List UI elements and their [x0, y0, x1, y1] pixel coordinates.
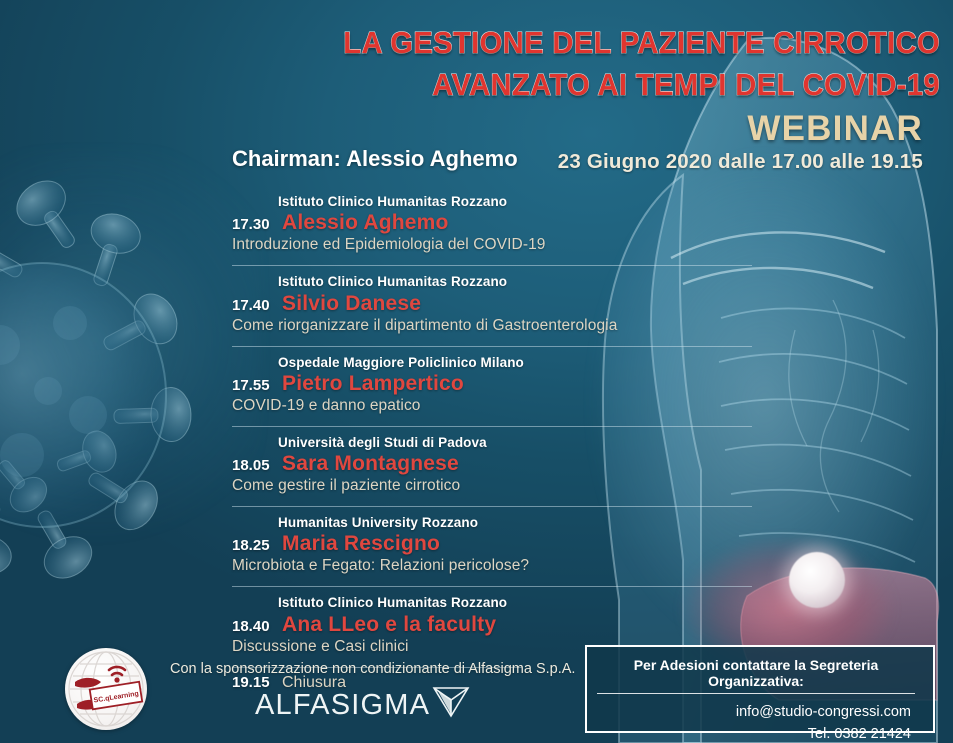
- entry-topic: Come riorganizzare il dipartimento di Ga…: [232, 317, 762, 335]
- entry-divider: [232, 586, 752, 587]
- program-entry: Università degli Studi di Padova 18.05 S…: [232, 433, 762, 499]
- entry-name-row: 18.25 Maria Rescigno: [232, 532, 762, 556]
- contact-box: Per Adesioni contattare la Segreteria Or…: [585, 645, 935, 733]
- entry-institution: Istituto Clinico Humanitas Rozzano: [278, 593, 762, 613]
- title-line-2: AVANZATO AI TEMPI DEL COVID-19: [291, 64, 940, 106]
- entry-divider: [232, 506, 752, 507]
- qlearning-logo-svg: SC.qLearning: [65, 648, 147, 730]
- contact-heading: Per Adesioni contattare la Segreteria Or…: [597, 657, 915, 694]
- entry-divider: [232, 346, 752, 347]
- sponsor-area: SC.qLearning Con la sponsorizzazione non…: [60, 645, 540, 740]
- entry-divider: [232, 265, 752, 266]
- alfasigma-wordmark: ALFASIGMA: [255, 689, 430, 722]
- entry-speaker: Alessio Aghemo: [282, 211, 449, 235]
- sponsor-statement: Con la sponsorizzazione non condizionant…: [170, 661, 575, 677]
- entry-institution: Università degli Studi di Padova: [278, 433, 762, 453]
- tumor-mass: [789, 552, 845, 608]
- entry-topic: COVID-19 e danno epatico: [232, 397, 762, 415]
- coronavirus-illustration: [0, 95, 260, 655]
- entry-speaker: Pietro Lampertico: [282, 372, 464, 396]
- entry-name-row: 17.30 Alessio Aghemo: [232, 211, 762, 235]
- chairman-label: Chairman: Alessio Aghemo: [232, 146, 518, 172]
- entry-institution: Humanitas University Rozzano: [278, 513, 762, 533]
- entry-topic: Microbiota e Fegato: Relazioni pericolos…: [232, 557, 762, 575]
- entry-time: 18.05: [232, 457, 272, 474]
- entry-topic: Come gestire il paziente cirrotico: [232, 477, 762, 495]
- entry-name-row: 17.55 Pietro Lampertico: [232, 372, 762, 396]
- entry-time: 17.30: [232, 216, 272, 233]
- program-entry: Ospedale Maggiore Policlinico Milano 17.…: [232, 353, 762, 419]
- entry-speaker: Ana LLeo e la faculty: [282, 613, 496, 637]
- entry-time: 17.55: [232, 377, 272, 394]
- entry-name-row: 17.40 Silvio Danese: [232, 292, 762, 316]
- poster-title: LA GESTIONE DEL PAZIENTE CIRROTICO AVANZ…: [250, 22, 940, 105]
- program-list: Istituto Clinico Humanitas Rozzano 17.30…: [232, 192, 762, 692]
- event-date: 23 Giugno 2020 dalle 17.00 alle 19.15: [558, 150, 923, 174]
- title-line-1: LA GESTIONE DEL PAZIENTE CIRROTICO: [291, 22, 940, 64]
- alfasigma-logo: ALFASIGMA: [255, 689, 471, 722]
- entry-name-row: 18.40 Ana LLeo e la faculty: [232, 613, 762, 637]
- entry-speaker: Silvio Danese: [282, 292, 421, 316]
- entry-speaker: Sara Montagnese: [282, 452, 459, 476]
- entry-speaker: Maria Rescigno: [282, 532, 440, 556]
- contact-phone[interactable]: Tel. 0382 21424: [587, 724, 919, 743]
- entry-institution: Istituto Clinico Humanitas Rozzano: [278, 192, 762, 212]
- entry-time: 18.40: [232, 618, 272, 635]
- entry-time: 18.25: [232, 537, 272, 554]
- program-entry: Istituto Clinico Humanitas Rozzano 17.40…: [232, 272, 762, 338]
- sc-qlearning-logo: SC.qLearning: [65, 648, 147, 730]
- format-label: WEBINAR: [747, 109, 923, 149]
- entry-name-row: 18.05 Sara Montagnese: [232, 452, 762, 476]
- contact-email[interactable]: info@studio-congressi.com: [587, 702, 919, 724]
- webinar-poster: LA GESTIONE DEL PAZIENTE CIRROTICO AVANZ…: [0, 0, 953, 743]
- entry-divider: [232, 426, 752, 427]
- alfasigma-triangle-icon: [431, 683, 471, 719]
- entry-time: 17.40: [232, 297, 272, 314]
- program-entry: Humanitas University Rozzano 18.25 Maria…: [232, 513, 762, 579]
- entry-topic: Introduzione ed Epidemiologia del COVID-…: [232, 236, 762, 254]
- program-entry: Istituto Clinico Humanitas Rozzano 17.30…: [232, 192, 762, 258]
- entry-institution: Istituto Clinico Humanitas Rozzano: [278, 272, 762, 292]
- entry-institution: Ospedale Maggiore Policlinico Milano: [278, 353, 762, 373]
